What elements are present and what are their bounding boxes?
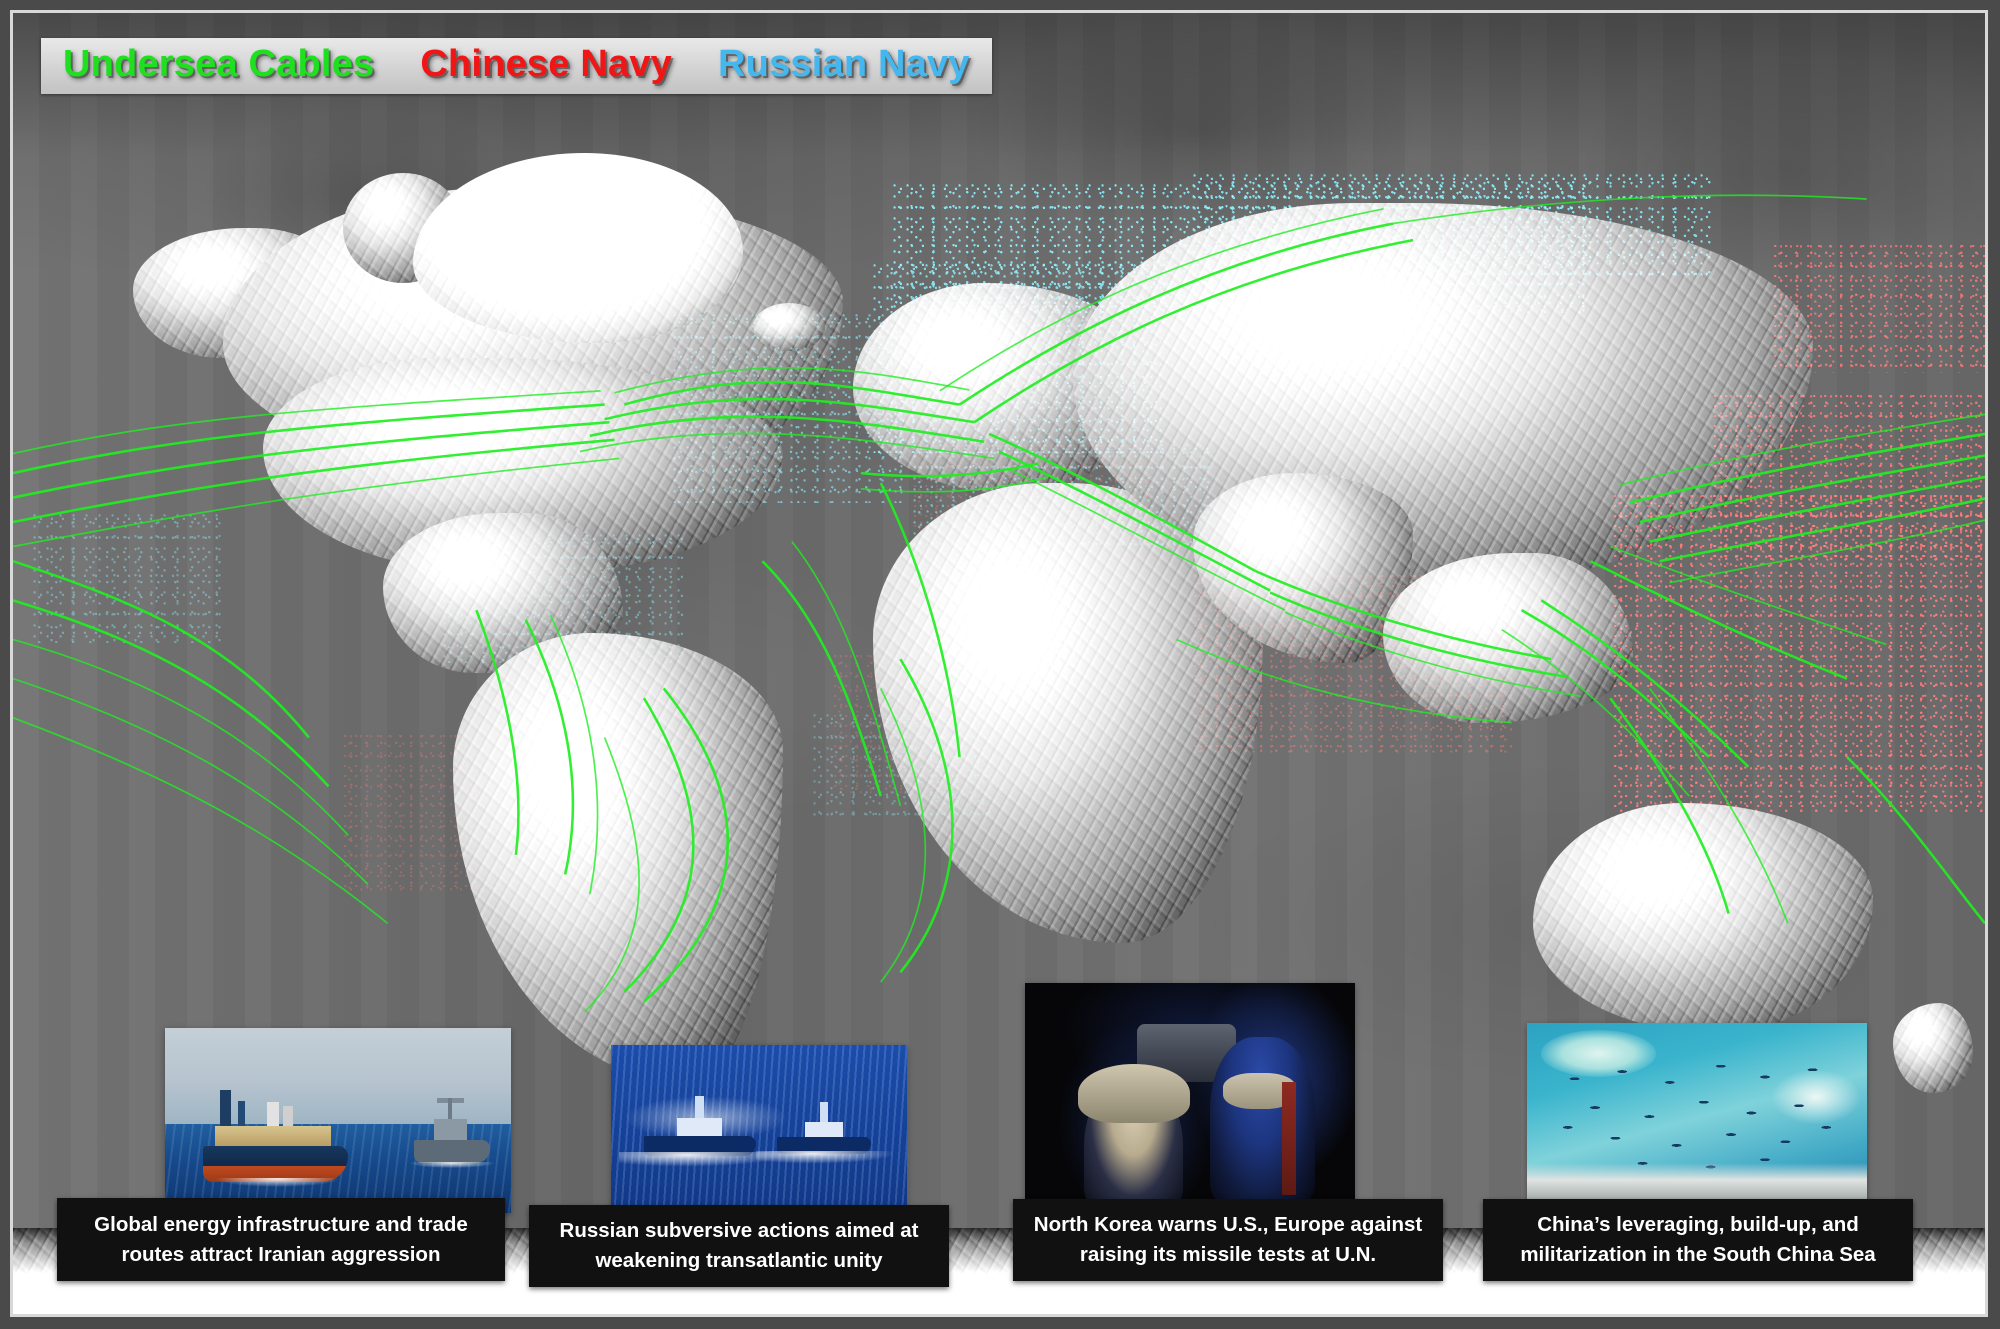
photo2-left-mast bbox=[695, 1096, 704, 1120]
legend-item-russian-navy: Russian Navy bbox=[718, 45, 970, 85]
caption-iranian-aggression: Global energy infrastructure and trade r… bbox=[57, 1198, 505, 1281]
caption-2-line-2: weakening transatlantic unity bbox=[595, 1249, 882, 1272]
caption-2-line-1: Russian subversive actions aimed at bbox=[560, 1219, 919, 1242]
caption-4-line-2: militarization in the South China Sea bbox=[1520, 1243, 1875, 1266]
photo1-warship-superstructure bbox=[434, 1119, 467, 1142]
map-frame: Undersea Cables Chinese Navy Russian Nav… bbox=[10, 10, 1988, 1317]
photo1-hull bbox=[203, 1146, 348, 1181]
photo1-warship-wake bbox=[410, 1162, 494, 1168]
chinese-navy-density-west-africa bbox=[833, 653, 1003, 793]
photo3-red-strap bbox=[1282, 1082, 1295, 1195]
photo3-figure-left-head bbox=[1078, 1064, 1190, 1123]
russian-navy-density-caribbean bbox=[443, 533, 683, 663]
photo1-wake bbox=[215, 1178, 340, 1187]
poster-root: Undersea Cables Chinese Navy Russian Nav… bbox=[0, 0, 2000, 1329]
russian-navy-density-barents bbox=[1193, 173, 1713, 283]
photo-cargo-ship-and-destroyer bbox=[165, 1028, 511, 1213]
photo3-figure-right bbox=[1210, 1037, 1316, 1204]
chinese-navy-density-yellow-sea bbox=[1773, 243, 1988, 373]
chinese-navy-density-indian-ocean bbox=[1193, 573, 1513, 753]
photo1-warship-mast bbox=[448, 1098, 453, 1121]
caption-3-line-2: raising its missile tests at U.N. bbox=[1080, 1243, 1376, 1266]
photo1-cargo-ship bbox=[203, 1095, 348, 1188]
caption-1-line-2: routes attract Iranian aggression bbox=[122, 1243, 441, 1266]
legend-item-chinese-navy: Chinese Navy bbox=[420, 45, 672, 85]
photo-two-warships bbox=[611, 1045, 907, 1215]
photo2-right-wake bbox=[756, 1151, 898, 1164]
caption-south-china-sea: China’s leveraging, build-up, and milita… bbox=[1483, 1199, 1913, 1281]
photo2-warship-right bbox=[777, 1120, 872, 1164]
caption-russian-subversion: Russian subversive actions aimed at weak… bbox=[529, 1205, 949, 1287]
photo-masked-figures bbox=[1025, 983, 1355, 1208]
legend-item-undersea-cables: Undersea Cables bbox=[63, 45, 374, 85]
photo-aerial-lagoon-vessels bbox=[1527, 1023, 1867, 1203]
chinese-navy-density-mediterranean bbox=[913, 443, 1153, 533]
photo1-warship-hull bbox=[414, 1140, 490, 1163]
landmass-new-zealand bbox=[1893, 1003, 1973, 1093]
russian-navy-density-pacific-us-west bbox=[33, 513, 223, 643]
chinese-navy-density-east-china-sea bbox=[1713, 393, 1988, 563]
chinese-navy-density-south-america bbox=[343, 733, 583, 893]
russian-navy-density-north-atlantic bbox=[673, 313, 903, 503]
photo2-warship-left bbox=[644, 1116, 756, 1167]
caption-4-line-1: China’s leveraging, build-up, and bbox=[1537, 1213, 1859, 1236]
map-legend: Undersea Cables Chinese Navy Russian Nav… bbox=[41, 38, 992, 94]
caption-1-line-1: Global energy infrastructure and trade bbox=[94, 1213, 468, 1236]
photo4-shoreline bbox=[1527, 1163, 1867, 1203]
photo1-warship bbox=[414, 1106, 490, 1173]
caption-north-korea-missiles: North Korea warns U.S., Europe against r… bbox=[1013, 1199, 1443, 1281]
caption-3-line-1: North Korea warns U.S., Europe against bbox=[1034, 1213, 1422, 1236]
russian-navy-density-baltic-north-sea bbox=[873, 263, 1163, 453]
photo2-right-mast bbox=[820, 1102, 828, 1123]
